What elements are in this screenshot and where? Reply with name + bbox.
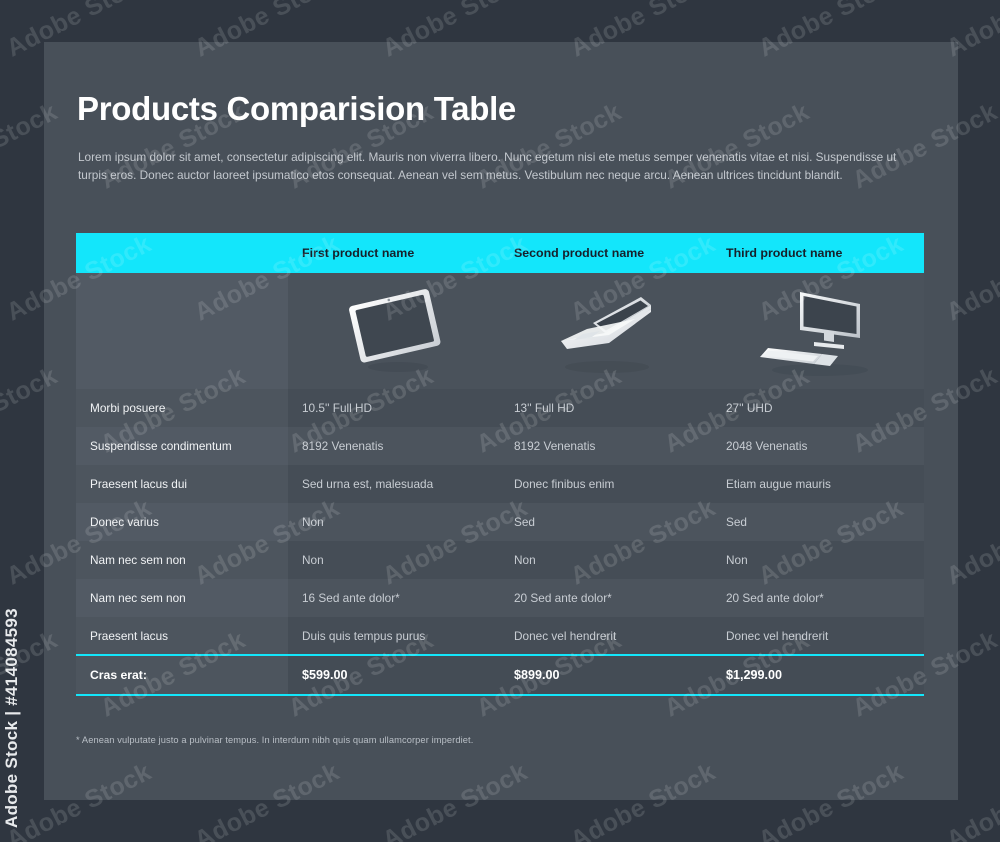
header-cell-product-3[interactable]: Third product name: [712, 233, 924, 273]
table-head: First product name Second product name T…: [76, 233, 924, 273]
row-value-product-1: Non: [288, 541, 500, 579]
row-value-product-1: Duis quis tempus purus: [288, 617, 500, 655]
row-value-product-3: 27'' UHD: [712, 389, 924, 427]
row-feature-label: Suspendisse condimentum: [76, 427, 288, 465]
table-row: Morbi posuere 10.5'' Full HD 13'' Full H…: [76, 389, 924, 427]
row-feature-label: Praesent lacus dui: [76, 465, 288, 503]
table-row: Nam nec sem non 16 Sed ante dolor* 20 Se…: [76, 579, 924, 617]
table-body: Morbi posuere 10.5'' Full HD 13'' Full H…: [76, 273, 924, 695]
product-image-cell-2: [500, 273, 712, 389]
row-feature-label: Nam nec sem non: [76, 541, 288, 579]
price-row: Cras erat: $599.00 $899.00 $1,299.00: [76, 655, 924, 695]
table-row: Suspendisse condimentum 8192 Venenatis 8…: [76, 427, 924, 465]
table-row: Praesent lacus dui Sed urna est, malesua…: [76, 465, 924, 503]
table-header-row: First product name Second product name T…: [76, 233, 924, 273]
row-value-product-3: 2048 Venenatis: [712, 427, 924, 465]
tablet-icon: [288, 273, 500, 389]
row-value-product-2: Sed: [500, 503, 712, 541]
row-value-product-1: 8192 Venenatis: [288, 427, 500, 465]
table-footnote: * Aenean vulputate justo a pulvinar temp…: [76, 735, 473, 745]
price-value-product-3: $1,299.00: [712, 655, 924, 695]
product-image-blank-cell: [76, 273, 288, 389]
row-value-product-3: 20 Sed ante dolor*: [712, 579, 924, 617]
row-value-product-3: Donec vel hendrerit: [712, 617, 924, 655]
table-row: Nam nec sem non Non Non Non: [76, 541, 924, 579]
price-row-label: Cras erat:: [76, 655, 288, 695]
price-value-product-1: $599.00: [288, 655, 500, 695]
product-image-cell-3: [712, 273, 924, 389]
desktop-monitor-icon: [712, 273, 924, 389]
comparison-card: Products Comparision Table Lorem ipsum d…: [44, 42, 958, 800]
row-value-product-2: Donec vel hendrerit: [500, 617, 712, 655]
table-row: Praesent lacus Duis quis tempus purus Do…: [76, 617, 924, 655]
row-feature-label: Donec varius: [76, 503, 288, 541]
page-description: Lorem ipsum dolor sit amet, consectetur …: [78, 148, 926, 184]
row-value-product-2: Donec finibus enim: [500, 465, 712, 503]
header-cell-product-1[interactable]: First product name: [288, 233, 500, 273]
row-value-product-3: Non: [712, 541, 924, 579]
header-cell-product-2[interactable]: Second product name: [500, 233, 712, 273]
price-value-product-2: $899.00: [500, 655, 712, 695]
row-feature-label: Praesent lacus: [76, 617, 288, 655]
page-title: Products Comparision Table: [77, 90, 516, 128]
row-value-product-2: Non: [500, 541, 712, 579]
table-row: Donec varius Non Sed Sed: [76, 503, 924, 541]
products-comparison-table: First product name Second product name T…: [76, 233, 924, 696]
row-value-product-3: Sed: [712, 503, 924, 541]
row-value-product-3: Etiam augue mauris: [712, 465, 924, 503]
row-value-product-2: 20 Sed ante dolor*: [500, 579, 712, 617]
stock-id-strip: Adobe Stock | #414084593: [0, 0, 44, 842]
product-image-cell-1: [288, 273, 500, 389]
row-value-product-2: 8192 Venenatis: [500, 427, 712, 465]
row-value-product-1: Sed urna est, malesuada: [288, 465, 500, 503]
row-feature-label: Morbi posuere: [76, 389, 288, 427]
row-feature-label: Nam nec sem non: [76, 579, 288, 617]
product-image-row: [76, 273, 924, 389]
row-value-product-1: 10.5'' Full HD: [288, 389, 500, 427]
laptop-icon: [500, 273, 712, 389]
stock-id-label: Adobe Stock | #414084593: [2, 608, 22, 828]
row-value-product-2: 13'' Full HD: [500, 389, 712, 427]
row-value-product-1: 16 Sed ante dolor*: [288, 579, 500, 617]
row-value-product-1: Non: [288, 503, 500, 541]
header-cell-feature: [76, 233, 288, 273]
